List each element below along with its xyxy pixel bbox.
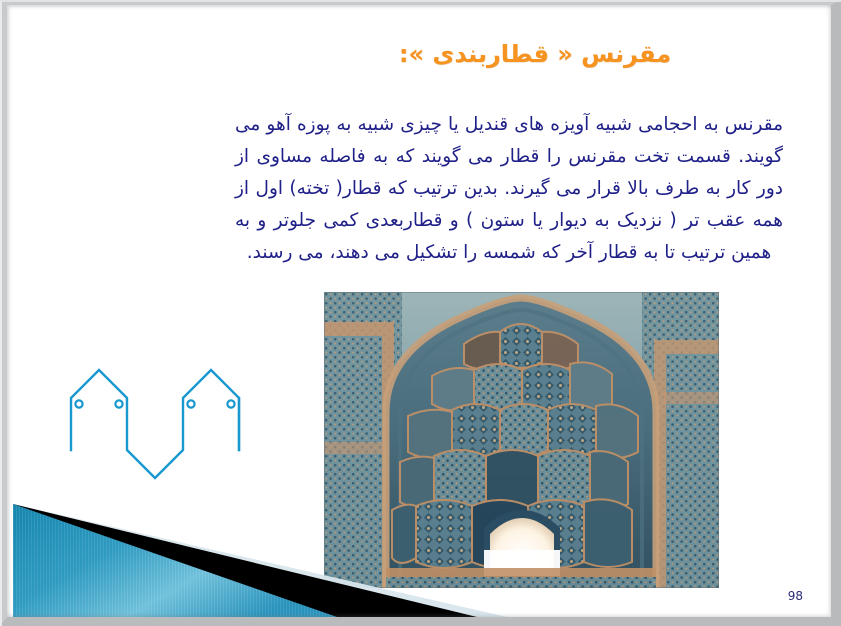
page-title: مقرنس « قطاربندی »: bbox=[275, 39, 795, 69]
triangle-pale-back bbox=[13, 504, 317, 617]
diagram-node-circle bbox=[115, 400, 122, 407]
diagram-node-circle bbox=[227, 400, 234, 407]
slide-root: مقرنس « قطاربندی »: مقرنس به احجامی شبیه… bbox=[0, 0, 841, 626]
muqarnas-vault-image bbox=[324, 292, 719, 588]
slide-canvas: مقرنس « قطاربندی »: مقرنس به احجامی شبیه… bbox=[7, 5, 831, 617]
triangle-blue-texture bbox=[13, 504, 337, 617]
body-paragraph: مقرنس به احجامی شبیه آویزه های قندیل یا … bbox=[235, 109, 783, 269]
muqarnas-profile-icon bbox=[65, 350, 305, 495]
diagram-node-circle bbox=[75, 400, 82, 407]
page-number: 98 bbox=[788, 589, 803, 603]
muqarnas-diagram bbox=[65, 350, 305, 495]
triangle-blue bbox=[13, 504, 337, 617]
diagram-node-circle bbox=[187, 400, 194, 407]
triangle-black-inner bbox=[13, 504, 367, 617]
muqarnas-vault-photo bbox=[324, 292, 719, 588]
